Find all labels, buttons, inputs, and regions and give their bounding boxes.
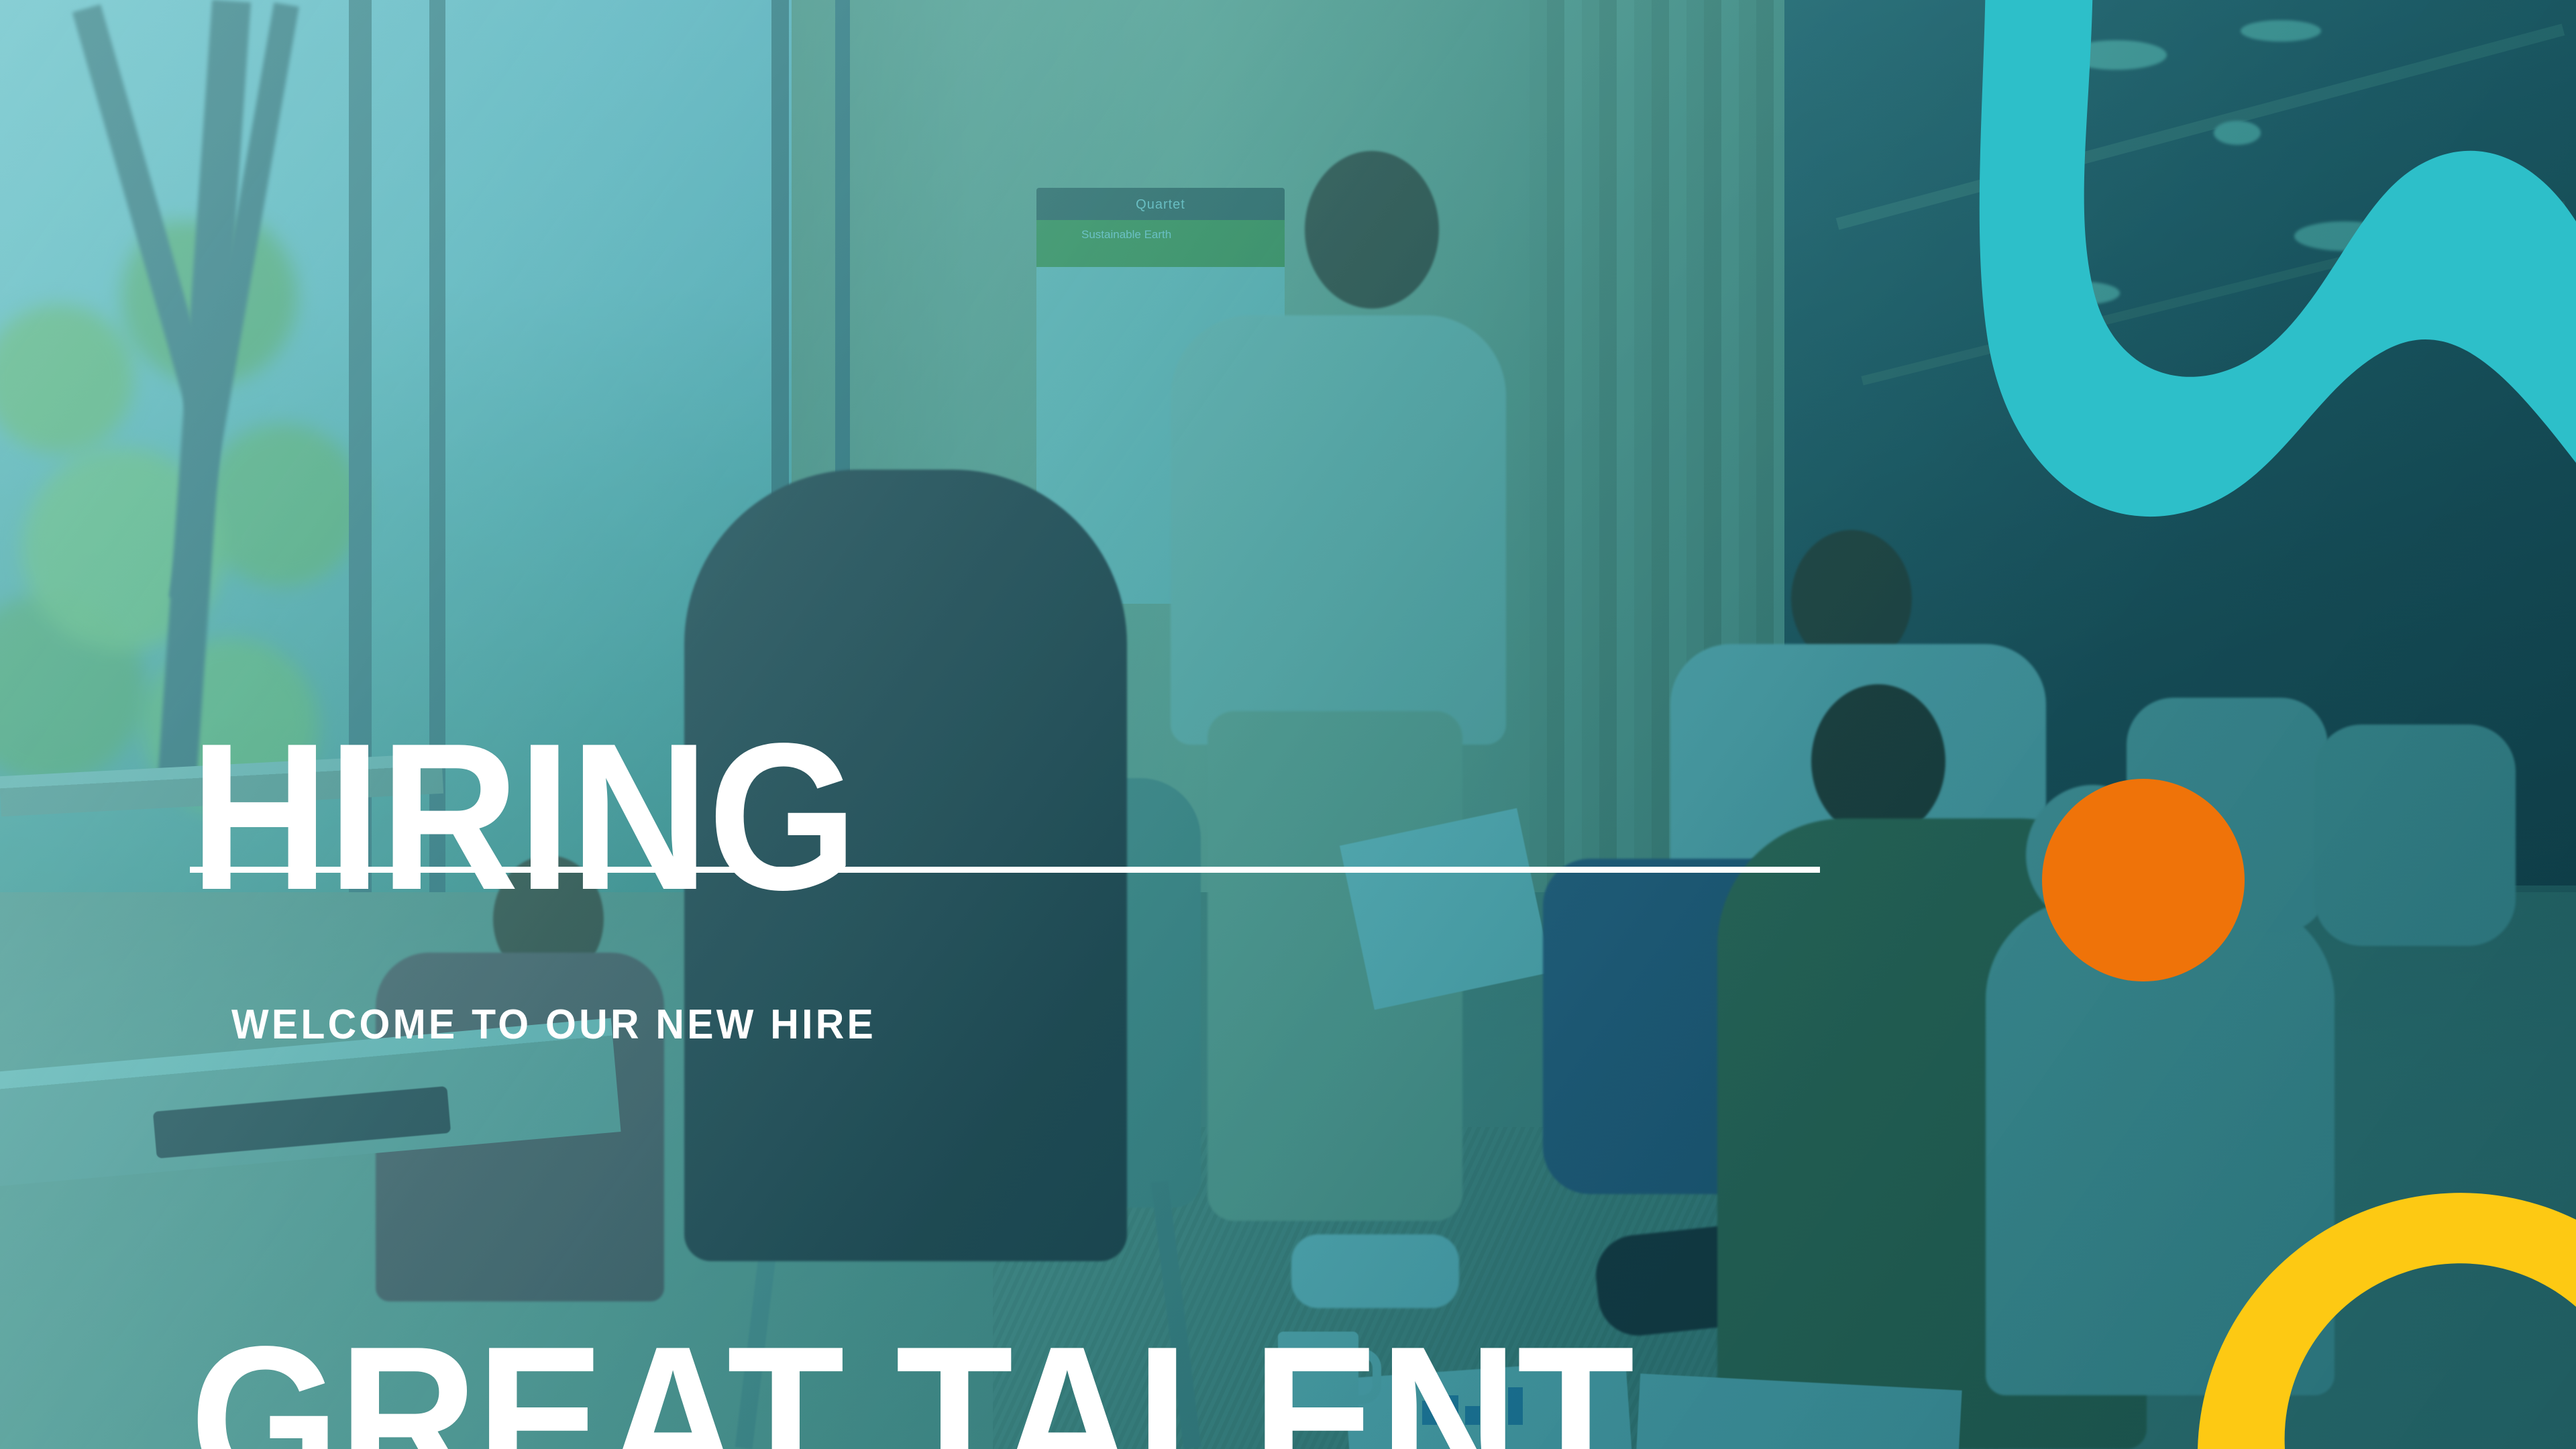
- title-divider-rule: [190, 867, 1820, 873]
- headline-line-2: GREAT TALENT: [190, 1320, 1633, 1449]
- page-title: HIRING GREAT TALENT: [190, 315, 1633, 1449]
- poster-canvas: Quartet Sustainable Earth: [0, 0, 2576, 1449]
- page-subtitle: WELCOME TO OUR NEW HIRE: [231, 1001, 876, 1049]
- headline-line-1: HIRING: [190, 717, 1633, 918]
